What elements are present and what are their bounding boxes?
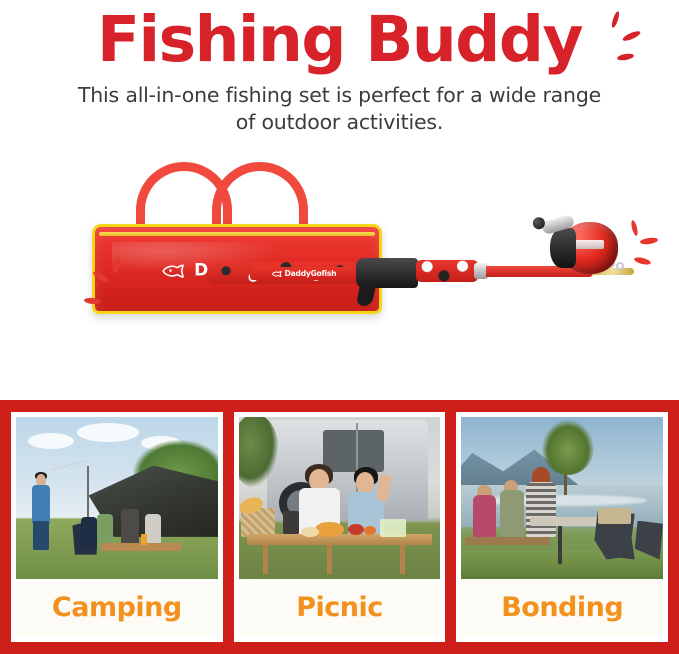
table-leg [263,545,268,574]
bonding-photo [461,417,663,579]
spincast-reel [546,218,622,278]
table-leg [400,545,405,574]
camping-label-plate: Camping [16,579,218,636]
food-item [364,526,376,536]
bonding-label-plate: Bonding [461,579,663,636]
picnic-table [530,517,603,525]
activity-card-bonding[interactable]: Bonding [456,412,668,642]
spark-icon [112,256,121,275]
page-subtitle: This all-in-one fishing set is perfect f… [70,82,610,136]
spark-icon [634,256,652,266]
reel-sideplate [550,228,576,268]
van-window [323,430,384,472]
table-leg [327,545,332,574]
person-legs [33,521,49,550]
header: Fishing Buddy This all-in-one fishing se… [0,0,679,136]
spark-icon [622,29,642,42]
activity-cards: Camping [11,412,668,642]
food-item [380,519,406,537]
seated-person [473,495,495,537]
rod-brand-name: DaddyGofish [285,269,337,278]
fishing-rod: DaddyGofish [208,200,638,315]
activity-label: Camping [52,592,182,623]
picnic-photo [239,417,441,579]
bag-spark-burst-icon [94,246,154,316]
drink-cup [141,534,147,545]
activities-band: Camping [0,400,679,654]
reel-knob [531,216,546,231]
activity-card-camping[interactable]: Camping [11,412,223,642]
seated-person [526,482,556,537]
standing-person [32,485,50,524]
activity-label: Picnic [296,592,383,623]
seated-person [81,517,97,549]
bench [465,537,550,545]
product-infographic: Fishing Buddy This all-in-one fishing se… [0,0,679,654]
food-item [348,524,364,535]
spark-icon [84,297,102,305]
activity-label: Bonding [501,592,623,623]
seated-person [500,490,524,537]
rod-midsection-camo [416,260,478,282]
food-item [301,527,319,537]
picnic-label-plate: Picnic [239,579,441,636]
fish-icon [272,271,283,277]
rod-brand-band: DaddyGofish [250,267,358,280]
reel-spark-burst-icon [616,220,672,272]
seated-person [121,509,139,548]
spark-icon [640,237,659,245]
spark-icon [617,53,635,62]
product-photo: DaddyGofish DaddyGofish [0,148,679,363]
spark-icon [610,11,620,29]
person-head [356,472,374,493]
rod-trigger [356,284,377,306]
camping-photo [16,417,218,579]
spark-icon [630,220,639,237]
table-leg [558,526,562,565]
camp-chair-headrest [598,508,630,524]
spark-icon [92,270,110,285]
food-item [315,522,343,537]
fish-icon [162,264,188,277]
activity-card-picnic[interactable]: Picnic [234,412,446,642]
page-title: Fishing Buddy [97,8,582,72]
thermos [283,511,299,534]
